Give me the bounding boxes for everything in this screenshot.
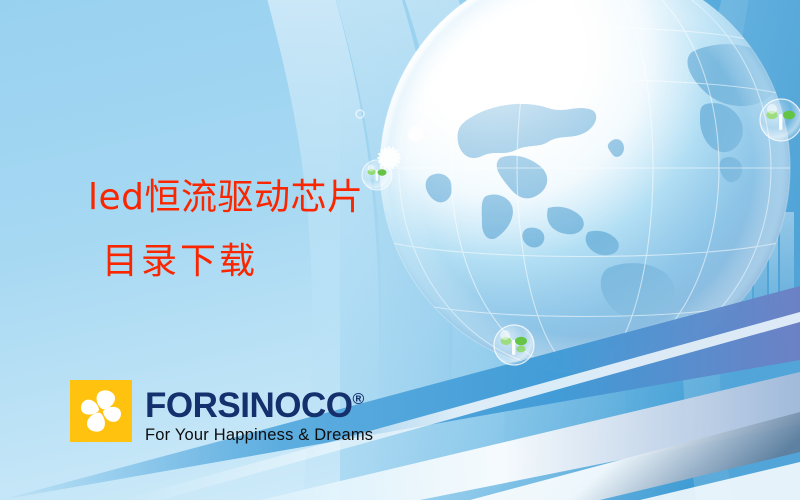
four-petal-flower-icon xyxy=(70,380,132,442)
registered-trademark-icon: ® xyxy=(352,391,364,408)
logo-wordmark: FORSINOCO® For Your Happiness & Dreams xyxy=(145,380,373,445)
brand-name-text: FORSINOCO xyxy=(145,386,352,425)
bubble-sprout-3 xyxy=(760,99,800,141)
headline-text: led恒流驱动芯片 目录下载 xyxy=(88,166,364,294)
bubble-sprout-2 xyxy=(494,325,534,365)
headline-line-2: 目录下载 xyxy=(88,230,364,294)
brand-tagline: For Your Happiness & Dreams xyxy=(145,425,373,445)
brand-name: FORSINOCO® xyxy=(145,382,373,424)
headline-line-1: led恒流驱动芯片 xyxy=(88,177,364,218)
sparkle-flower-2 xyxy=(407,125,424,142)
slide-canvas: led恒流驱动芯片 目录下载 FORSINOCO® For Your Happi… xyxy=(0,0,800,500)
company-logo[interactable]: FORSINOCO® For Your Happiness & Dreams xyxy=(70,380,373,445)
bubble-sprout-1 xyxy=(362,160,392,190)
